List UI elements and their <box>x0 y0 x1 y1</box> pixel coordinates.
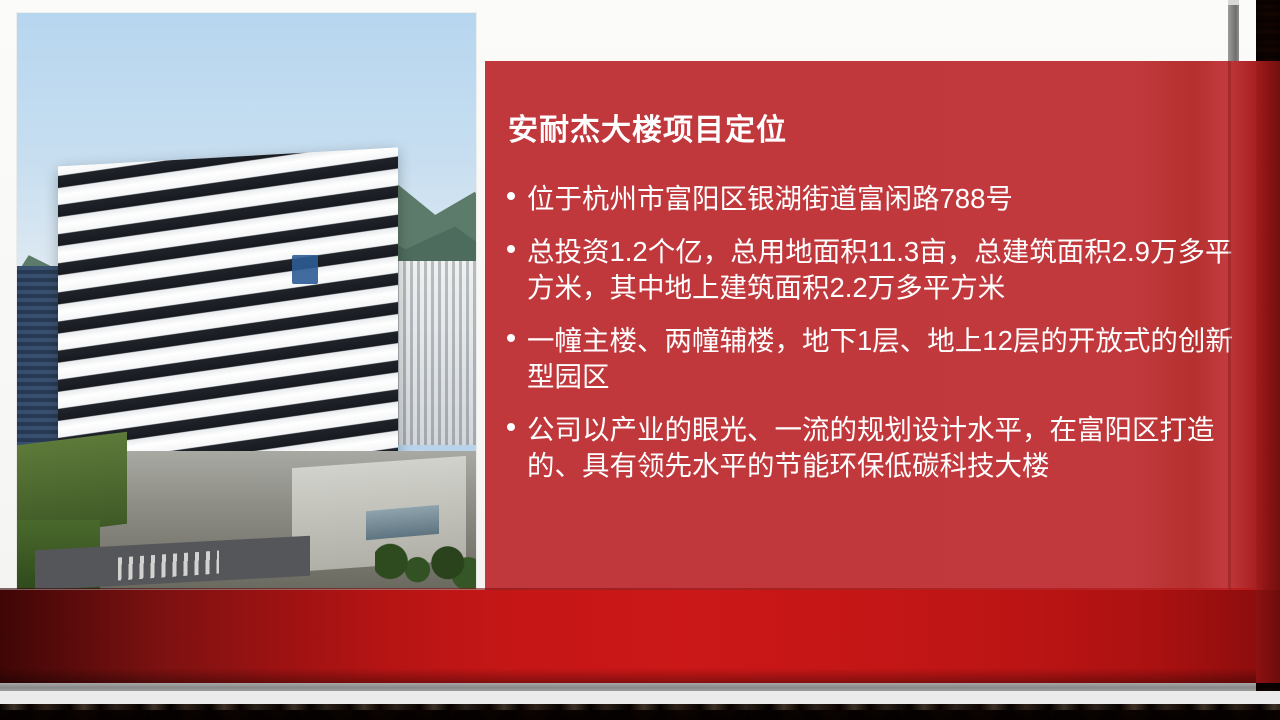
wood-floor-highlight <box>0 704 1280 710</box>
photo-trees <box>375 520 476 589</box>
bullet-dot-icon <box>507 334 515 342</box>
list-item: 位于杭州市富阳区银湖街道富闲路788号 <box>501 181 1246 218</box>
bottom-banner-right-block <box>1256 590 1280 683</box>
grey-tab-decoration <box>1228 0 1239 64</box>
list-item-text: 一幢主楼、两幢辅楼，地下1层、地上12层的开放式的创新型园区 <box>527 323 1246 396</box>
bullet-dot-icon <box>507 192 515 200</box>
page-title: 安耐杰大楼项目定位 <box>508 105 787 149</box>
slide: 安耐杰大楼项目定位 位于杭州市富阳区银湖街道富闲路788号 总投资1.2个亿，总… <box>0 0 1280 720</box>
bullet-dot-icon <box>507 423 515 431</box>
bottom-banner-shadow <box>0 668 1256 683</box>
panel-right-edge-decoration <box>1256 61 1280 590</box>
list-item-text: 总投资1.2个亿，总用地面积11.3亩，总建筑面积2.9万多平方米，其中地上建筑… <box>527 234 1246 307</box>
grey-tab-cap-decoration <box>1228 0 1239 5</box>
list-item-text: 公司以产业的眼光、一流的规划设计水平，在富阳区打造的、具有领先水平的节能环保低碳… <box>527 412 1246 485</box>
building-photo <box>17 13 476 589</box>
list-item: 公司以产业的眼光、一流的规划设计水平，在富阳区打造的、具有领先水平的节能环保低碳… <box>501 412 1246 485</box>
content-panel: 安耐杰大楼项目定位 位于杭州市富阳区银湖街道富闲路788号 总投资1.2个亿，总… <box>485 61 1256 590</box>
list-item: 一幢主楼、两幢辅楼，地下1层、地上12层的开放式的创新型园区 <box>501 323 1246 396</box>
list-item-text: 位于杭州市富阳区银湖街道富闲路788号 <box>527 181 1246 218</box>
list-item: 总投资1.2个亿，总用地面积11.3亩，总建筑面积2.9万多平方米，其中地上建筑… <box>501 234 1246 307</box>
bottom-white-rule <box>0 691 1280 704</box>
panel-seam-decoration <box>1228 61 1231 590</box>
bullet-list: 位于杭州市富阳区银湖街道富闲路788号 总投资1.2个亿，总用地面积11.3亩，… <box>501 181 1246 501</box>
bullet-dot-icon <box>507 245 515 253</box>
photo-building-logo <box>292 255 317 284</box>
bottom-grey-rule <box>0 683 1256 691</box>
building-photo-frame <box>17 13 476 589</box>
